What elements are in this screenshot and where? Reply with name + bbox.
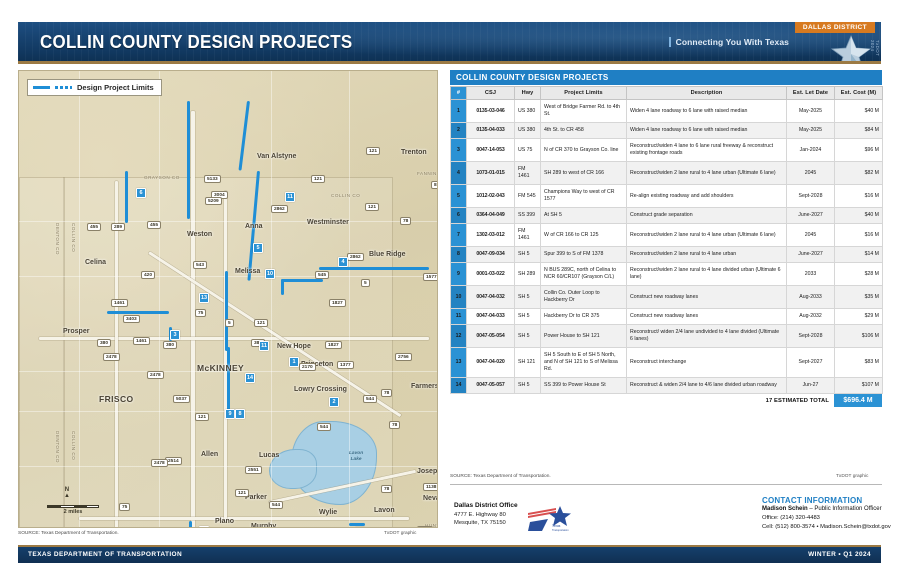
route-shield-121-0: 121	[366, 147, 380, 155]
city-label-nevada: Nevada	[423, 495, 438, 502]
cell-csj: 1012-02-043	[467, 185, 515, 208]
cell-description: Re-align existing roadway and add should…	[627, 185, 787, 208]
table-row: 20135-04-033US 3804th St. to CR 458Widen…	[451, 123, 883, 139]
project-badge-4-3[interactable]: 4	[338, 257, 348, 267]
cell-number: 14	[451, 378, 467, 394]
cell-csj: 0001-03-022	[467, 263, 515, 286]
cell-let-date: 2033	[787, 263, 835, 286]
divider-line	[450, 484, 882, 485]
cell-csj: 0047-04-020	[467, 348, 515, 378]
table-row: 30047-14-053US 75N of CR 370 to Grayson …	[451, 139, 883, 162]
footer-period: WINTER • Q1 2024	[808, 551, 871, 558]
project-line-celina	[125, 171, 128, 223]
city-label-frisco: FRISCO	[99, 394, 134, 404]
route-shield-1138-50: 1138	[417, 526, 433, 528]
table-row: 110047-04-033SH 5Hackberry Dr to CR 375C…	[451, 309, 883, 325]
cell-cost: $84 M	[835, 123, 883, 139]
cell-limits: N of CR 370 to Grayson Co. line	[541, 139, 627, 162]
cell-number: 6	[451, 208, 467, 224]
svg-text:Texas: Texas	[552, 524, 561, 528]
cell-csj: 0047-14-053	[467, 139, 515, 162]
cell-description: Reconstruct & widen 2/4 lane to 4/6 lane…	[627, 378, 787, 394]
route-shield-815-4: 815	[431, 181, 438, 189]
col-header-hwy: Hwy	[515, 87, 541, 100]
north-arrow-label: N	[65, 487, 69, 493]
route-shield-545-14: 545	[315, 271, 329, 279]
city-label-van-alstyne: Van Alstyne	[257, 153, 296, 160]
route-shield-1138-46: 1138	[423, 483, 438, 491]
cell-csj: 0047-05-054	[467, 325, 515, 348]
cell-let-date: Aug-2033	[787, 286, 835, 309]
cell-hwy: FM 545	[515, 185, 541, 208]
total-value: $696.4 M	[834, 394, 882, 407]
contact-cell-email[interactable]: Cell: (512) 800-3574 • Madison.Schein@tx…	[762, 523, 891, 532]
cell-csj: 1302-03-012	[467, 224, 515, 247]
cell-hwy: FM 1461	[515, 162, 541, 185]
txdot-logo-icon: Texas Transportation	[526, 504, 578, 534]
project-badge-14-9[interactable]: 14	[245, 373, 255, 383]
district-office-block: Dallas District Office 4777 E. Highway 8…	[454, 502, 578, 534]
scalebar-bar	[47, 505, 99, 508]
contact-person: Madison Schein – Public Information Offi…	[762, 505, 891, 514]
route-shield-1461-19: 1461	[111, 299, 128, 307]
cell-csj: 0047-05-057	[467, 378, 515, 394]
county-label-3: DENTON CO	[55, 223, 60, 255]
route-shield-121-2: 121	[311, 175, 325, 183]
city-label-wylie: Wylie	[319, 509, 337, 516]
route-shield-78-45: 78	[381, 485, 392, 493]
city-label-weston: Weston	[187, 231, 212, 238]
office-address-line2: Mesquite, TX 75150	[454, 519, 518, 528]
table-header-row: # CSJ Hwy Project Limits Description Est…	[451, 87, 883, 100]
route-shield-1577-17: 1577	[423, 273, 438, 281]
table-row: 120047-05-054SH 5Power House to SH 121Re…	[451, 325, 883, 348]
district-office-text: Dallas District Office 4777 E. Highway 8…	[454, 502, 518, 528]
cell-number: 1	[451, 100, 467, 123]
cell-hwy: SH 5	[515, 378, 541, 394]
cell-limits: Power House to SH 121	[541, 325, 627, 348]
cell-let-date: May-2025	[787, 123, 835, 139]
table-row: 80047-09-034SH 5Spur 399 to S of FM 1378…	[451, 247, 883, 263]
route-shield-2756-29: 2756	[395, 353, 412, 361]
cell-cost: $29 M	[835, 309, 883, 325]
route-shield-2478-31: 2478	[147, 371, 164, 379]
cell-description: Reconstruct/widen 4 lane to 6 lane rural…	[627, 139, 787, 162]
north-arrow-icon: N▲	[64, 487, 70, 499]
county-label-1: COLLIN CO	[331, 193, 360, 198]
cell-hwy: SH 5	[515, 247, 541, 263]
cell-cost: $96 M	[835, 139, 883, 162]
table-body: 10135-03-046US 380West of Bridge Farmer …	[451, 100, 883, 394]
cell-description: Construct grade separation	[627, 208, 787, 224]
route-shield-5037-34: 5037	[173, 395, 190, 403]
route-shield-380-25: 380	[97, 339, 111, 347]
contact-heading: CONTACT INFORMATION	[762, 496, 891, 505]
route-shield-78-7: 78	[400, 217, 411, 225]
map-scalebar: 2 miles	[47, 505, 99, 515]
city-label-josephine: Josephine	[417, 468, 438, 475]
contact-person-name: Madison Schein	[762, 506, 808, 512]
project-badge-11-1[interactable]: 11	[285, 192, 295, 202]
cell-let-date: 2045	[787, 162, 835, 185]
route-shield-121-35: 121	[195, 413, 209, 421]
table-row: 10135-03-046US 380West of Bridge Farmer …	[451, 100, 883, 123]
contact-office-phone: Office: (214) 320-4483	[762, 514, 891, 523]
project-line-parker	[189, 521, 192, 528]
cell-limits: Spur 399 to S of FM 1378	[541, 247, 627, 263]
city-label-lowry-crossing: Lowry Crossing	[294, 386, 347, 393]
cell-description: Reconstruct/ widen 2/4 lane undivided to…	[627, 325, 787, 348]
project-badge-1-8[interactable]: 1	[289, 357, 299, 367]
project-badge-9-11[interactable]: 9	[225, 409, 235, 419]
county-label-4: COLLIN CO	[71, 223, 76, 252]
table-row: 41073-01-015FM 1461SH 289 to west of CR …	[451, 162, 883, 185]
route-shield-78-36: 78	[381, 389, 392, 397]
route-shield-121-59: 121	[235, 489, 249, 497]
cell-number: 11	[451, 309, 467, 325]
city-label-murphy: Murphy	[251, 523, 276, 528]
route-shield-2720-49: 2720	[365, 527, 382, 528]
road-pgbt	[79, 517, 409, 520]
city-label-anna: Anna	[245, 223, 263, 230]
cell-description: Widen 4 lane roadway to 6 lane with rais…	[627, 100, 787, 123]
cell-cost: $14 M	[835, 247, 883, 263]
project-badge-6-0[interactable]: 6	[136, 188, 146, 198]
city-label-allen: Allen	[201, 451, 218, 458]
street-grid-5	[19, 466, 438, 467]
cell-let-date: Jan-2024	[787, 139, 835, 162]
cell-csj: 0047-04-033	[467, 309, 515, 325]
project-line-wylie	[349, 523, 365, 526]
route-shield-2862-13: 2862	[347, 253, 364, 261]
table-row: 90001-03-022SH 289N BUS 289C, north of C…	[451, 263, 883, 286]
route-shield-1827-18: 1827	[329, 299, 346, 307]
district-tab: DALLAS DISTRICT	[795, 22, 875, 33]
txdot-star-icon	[831, 34, 871, 64]
project-badge-10-4[interactable]: 10	[265, 269, 275, 279]
city-label-celina: Celina	[85, 259, 106, 266]
project-line-mckinney	[227, 347, 230, 417]
cell-number: 5	[451, 185, 467, 208]
route-shield-5133-1: 5133	[204, 175, 221, 183]
cell-number: 2	[451, 123, 467, 139]
cell-csj: 1073-01-015	[467, 162, 515, 185]
street-grid-6	[79, 71, 80, 528]
project-badge-12-13[interactable]: 12	[355, 527, 365, 528]
project-badge-7-14[interactable]: 7	[199, 526, 209, 528]
cell-number: 13	[451, 348, 467, 378]
cell-number: 7	[451, 224, 467, 247]
col-header-description: Description	[627, 87, 787, 100]
table-row: 60364-04-049SS 399At SH 5Construct grade…	[451, 208, 883, 224]
city-label-melissa: Melissa	[235, 268, 260, 275]
city-label-lucas: Lucas	[259, 452, 279, 459]
county-label-2: FANNIN CO	[417, 171, 438, 176]
cell-description: Construct new roadway lanes	[627, 309, 787, 325]
table-source-note: SOURCE: Texas Department of Transportati…	[450, 474, 551, 479]
page-root: COLLIN COUNTY DESIGN PROJECTS Connecting…	[0, 0, 899, 582]
cell-cost: $82 M	[835, 162, 883, 185]
route-shield-455-9: 455	[87, 223, 101, 231]
cell-limits: Collin Co. Outer Loop to Hackberry Dr	[541, 286, 627, 309]
col-header-number: #	[451, 87, 467, 100]
cell-description: Reconstruct/widen 2 lane rural to 4 lane…	[627, 224, 787, 247]
cell-let-date: Sept-2027	[787, 348, 835, 378]
cell-limits: Champions Way to west of CR 1577	[541, 185, 627, 208]
route-shield-2478-26: 2478	[103, 353, 120, 361]
cell-limits: SH 289 to west of CR 166	[541, 162, 627, 185]
office-address-line1: 4777 E. Highway 80	[454, 511, 518, 520]
map-panel[interactable]: Design Project Limits Van AlstyneTrenton…	[18, 70, 438, 528]
route-shield-1377-33: 1377	[337, 361, 354, 369]
col-header-let-date: Est. Let Date	[787, 87, 835, 100]
cell-limits: West of Bridge Farmer Rd. to 4th St.	[541, 100, 627, 123]
route-shield-3403-20: 3403	[123, 315, 140, 323]
cell-limits: Hackberry Dr to CR 375	[541, 309, 627, 325]
table-title: COLLIN COUNTY DESIGN PROJECTS	[450, 70, 882, 86]
cell-number: 8	[451, 247, 467, 263]
table-head: # CSJ Hwy Project Limits Description Est…	[451, 87, 883, 100]
route-shield-380-30: 380	[163, 341, 177, 349]
route-shield-5-15: 5	[361, 279, 370, 287]
cell-description: Construct new roadway lanes	[627, 286, 787, 309]
cell-csj: 0047-04-032	[467, 286, 515, 309]
route-shield-121-6: 121	[365, 203, 379, 211]
project-badge-8-12[interactable]: 8	[235, 409, 245, 419]
project-line-us380w	[107, 311, 169, 314]
cell-limits: SS 399 to Power House St	[541, 378, 627, 394]
project-badge-13-5[interactable]: 13	[199, 293, 209, 303]
table-row: 51012-02-043FM 545Champions Way to west …	[451, 185, 883, 208]
cell-cost: $40 M	[835, 208, 883, 224]
project-line-545b	[281, 279, 284, 295]
cell-limits: SH 5 South to E of SH 5 North, and N of …	[541, 348, 627, 378]
scalebar-label: 2 miles	[47, 509, 99, 515]
route-shield-75-21: 75	[195, 309, 206, 317]
water-label-lavon-lake: LavonLake	[349, 451, 363, 463]
cell-cost: $40 M	[835, 100, 883, 123]
cell-description: Reconstruct/widen 2 lane rural to 4 lane…	[627, 263, 787, 286]
cell-hwy: FM 1461	[515, 224, 541, 247]
project-line-blue-ridge	[319, 267, 429, 270]
cell-let-date: Aug-2032	[787, 309, 835, 325]
city-label-plano: Plano	[215, 518, 234, 525]
table-total-row: 17 ESTIMATED TOTAL $696.4 M	[450, 394, 882, 407]
cell-hwy: SH 5	[515, 325, 541, 348]
header-tagline: Connecting You With Texas	[669, 37, 789, 47]
cell-let-date: Sept-2028	[787, 325, 835, 348]
project-line-sh5-n	[225, 271, 228, 351]
route-shield-2478-43: 2478	[151, 459, 168, 467]
table-row: 100047-04-032SH 5Collin Co. Outer Loop t…	[451, 286, 883, 309]
cell-limits: W of CR 166 to CR 125	[541, 224, 627, 247]
route-shield-420-16: 420	[141, 271, 155, 279]
project-line-545a	[281, 279, 323, 282]
cell-number: 12	[451, 325, 467, 348]
cell-let-date: Sept-2028	[787, 185, 835, 208]
page-header: COLLIN COUNTY DESIGN PROJECTS Connecting…	[18, 22, 881, 64]
cell-csj: 0135-04-033	[467, 123, 515, 139]
route-shield-2551-42: 2551	[245, 466, 262, 474]
contact-person-role: – Public Information Officer	[808, 506, 882, 512]
cell-csj: 0135-03-046	[467, 100, 515, 123]
street-grid-8	[271, 71, 272, 528]
cell-description: Reconstruct/widen 2 lane rural to 4 lane…	[627, 247, 787, 263]
cell-let-date: 2045	[787, 224, 835, 247]
cell-limits: 4th St. to CR 458	[541, 123, 627, 139]
legend-solid-swatch	[33, 86, 50, 89]
route-shield-544-48: 544	[269, 501, 283, 509]
cell-description: Reconstruct interchange	[627, 348, 787, 378]
city-label-lavon: Lavon	[374, 507, 395, 514]
cell-cost: $107 M	[835, 378, 883, 394]
cell-hwy: SH 5	[515, 286, 541, 309]
city-label-new-hope: New Hope	[277, 343, 311, 350]
city-label-westminster: Westminster	[307, 219, 349, 226]
project-badge-2-10[interactable]: 2	[329, 397, 339, 407]
cell-let-date: Jun-27	[787, 378, 835, 394]
cell-number: 4	[451, 162, 467, 185]
svg-text:Transportation: Transportation	[552, 528, 569, 532]
cell-cost: $106 M	[835, 325, 883, 348]
route-shield-2862-5: 2862	[271, 205, 288, 213]
cell-csj: 0047-09-034	[467, 247, 515, 263]
map-legend: Design Project Limits	[27, 79, 162, 96]
footer-agency-name: TEXAS DEPARTMENT OF TRANSPORTATION	[28, 551, 182, 558]
page-title: COLLIN COUNTY DESIGN PROJECTS	[40, 32, 352, 53]
table-credit-note: TxDOT graphic	[836, 474, 868, 479]
contact-information-block: CONTACT INFORMATION Madison Schein – Pub…	[762, 496, 891, 532]
cell-hwy: US 75	[515, 139, 541, 162]
project-badge-11-7[interactable]: 11	[259, 341, 269, 351]
city-label-farmersville: Farmersville	[411, 383, 438, 390]
table-row: 71302-03-012FM 1461W of CR 166 to CR 125…	[451, 224, 883, 247]
projects-table: # CSJ Hwy Project Limits Description Est…	[450, 86, 883, 394]
total-label: 17 ESTIMATED TOTAL	[766, 394, 834, 407]
city-label-prosper: Prosper	[63, 328, 89, 335]
route-shield-1827-28: 1827	[325, 341, 342, 349]
route-shield-75-58: 75	[119, 503, 130, 511]
table-row: 140047-05-057SH 5SS 399 to Power House S…	[451, 378, 883, 394]
cell-number: 9	[451, 263, 467, 286]
col-header-limits: Project Limits	[541, 87, 627, 100]
cell-let-date: June-2027	[787, 208, 835, 224]
route-shield-1461-24: 1461	[133, 337, 150, 345]
col-header-cost: Est. Cost (M)	[835, 87, 883, 100]
cell-cost: $16 M	[835, 185, 883, 208]
route-shield-2170-32: 2170	[299, 363, 316, 371]
cell-description: Widen 4 lane roadway to 6 lane with rais…	[627, 123, 787, 139]
street-grid-1	[19, 221, 438, 222]
route-shield-5209-8: 5209	[205, 197, 222, 205]
county-label-0: GRAYSON CO	[144, 175, 180, 180]
cell-hwy: SH 121	[515, 348, 541, 378]
cell-hwy: US 380	[515, 123, 541, 139]
map-credit-note: TxDOT graphic	[384, 531, 416, 536]
header-vertical-code: TxDOT 2024	[870, 40, 880, 61]
city-label-mckinney: McKINNEY	[197, 363, 244, 373]
cell-let-date: May-2025	[787, 100, 835, 123]
route-shield-544-39: 544	[317, 423, 331, 431]
route-shield-78-40: 78	[389, 421, 400, 429]
projects-table-panel: COLLIN COUNTY DESIGN PROJECTS # CSJ Hwy …	[450, 70, 882, 407]
legend-label: Design Project Limits	[77, 83, 154, 92]
street-grid-2	[19, 276, 438, 277]
page-footer: TEXAS DEPARTMENT OF TRANSPORTATION WINTE…	[18, 545, 881, 563]
route-shield-121-23: 121	[254, 319, 268, 327]
cell-hwy: SH 289	[515, 263, 541, 286]
table-row: 130047-04-020SH 121SH 5 South to E of SH…	[451, 348, 883, 378]
cell-description: Reconstruct/widen 2 lane rural to 4 lane…	[627, 162, 787, 185]
cell-limits: N BUS 289C, north of Celina to NCR 60/CR…	[541, 263, 627, 286]
route-shield-5-22: 5	[225, 319, 234, 327]
city-label-blue-ridge: Blue Ridge	[369, 251, 406, 258]
cell-csj: 0364-04-049	[467, 208, 515, 224]
county-label-6: COLLIN CO	[71, 431, 76, 460]
legend-dashed-swatch	[55, 86, 72, 89]
cell-hwy: US 380	[515, 100, 541, 123]
cell-cost: $35 M	[835, 286, 883, 309]
city-label-trenton: Trenton	[401, 149, 427, 156]
cell-limits: At SH 5	[541, 208, 627, 224]
cell-cost: $16 M	[835, 224, 883, 247]
cell-hwy: SS 399	[515, 208, 541, 224]
cell-cost: $83 M	[835, 348, 883, 378]
cell-hwy: SH 5	[515, 309, 541, 325]
col-header-csj: CSJ	[467, 87, 515, 100]
route-shield-544-37: 544	[363, 395, 377, 403]
project-badge-3-6[interactable]: 3	[170, 330, 180, 340]
route-shield-289-10: 289	[111, 223, 125, 231]
project-line-anna-n	[187, 101, 190, 219]
cell-let-date: June-2027	[787, 247, 835, 263]
route-shield-455-11: 455	[147, 221, 161, 229]
county-label-5: DENTON CO	[55, 431, 60, 463]
cell-cost: $28 M	[835, 263, 883, 286]
cell-number: 10	[451, 286, 467, 309]
cell-number: 3	[451, 139, 467, 162]
map-source-note: SOURCE: Texas Department of Transportati…	[18, 531, 119, 536]
route-shield-543-12: 543	[193, 261, 207, 269]
project-badge-5-2[interactable]: 5	[253, 243, 263, 253]
office-name: Dallas District Office	[454, 502, 518, 511]
